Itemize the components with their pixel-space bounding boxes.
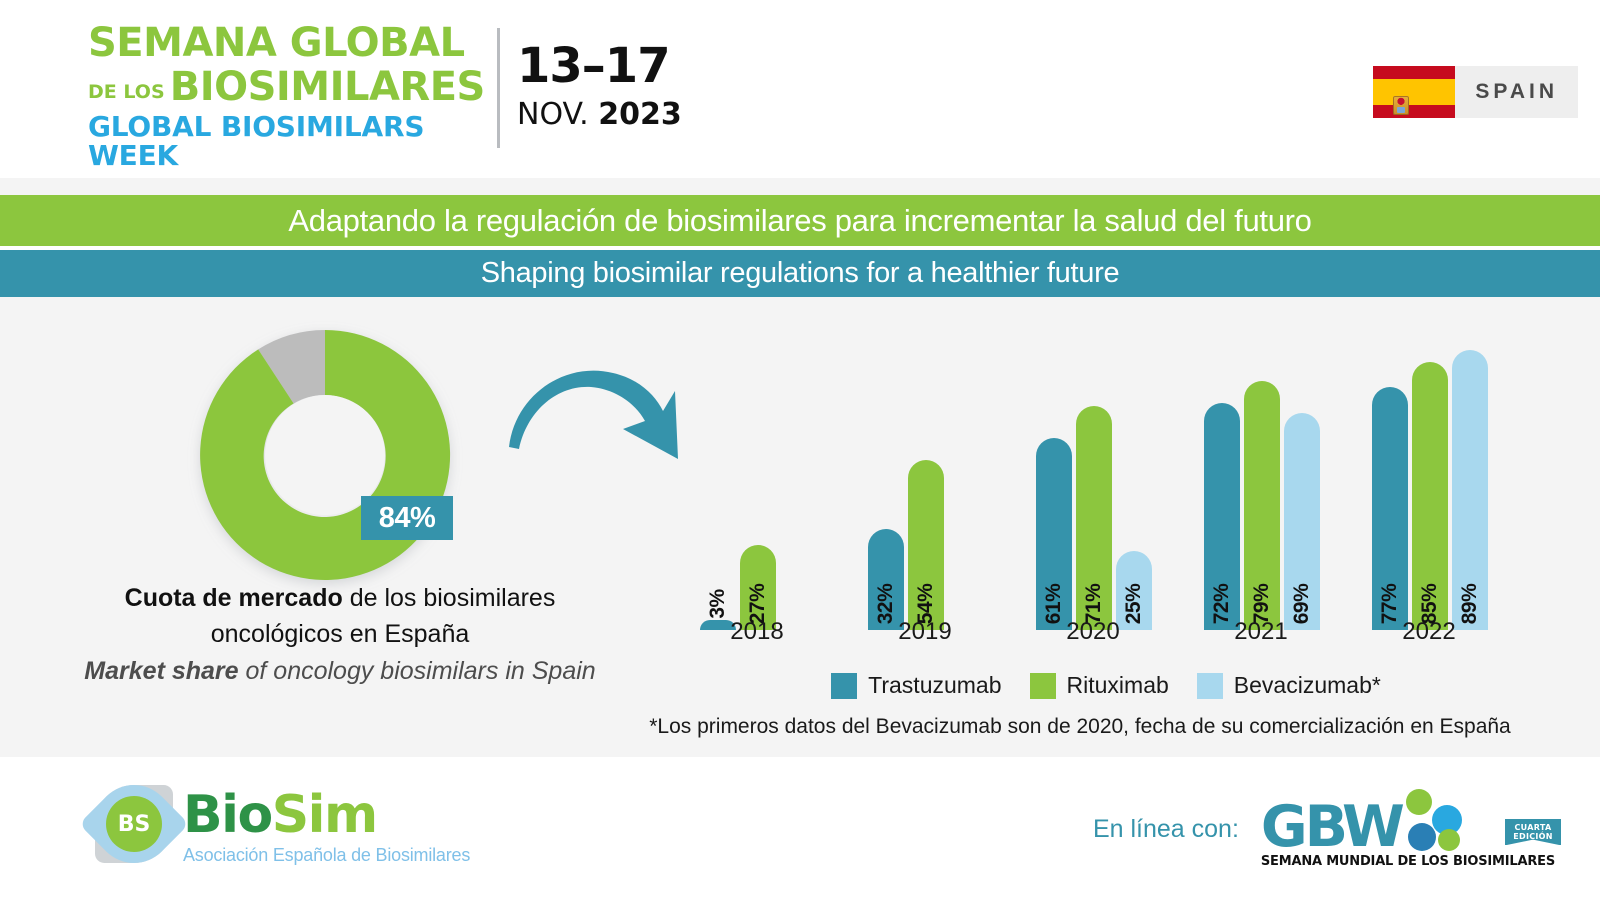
donut-chart	[180, 310, 470, 600]
donut-value-badge: 84%	[361, 496, 453, 540]
bar-bevacizumab-2021: 69%	[1284, 413, 1320, 630]
gbw-subtitle: SEMANA MUNDIAL DE LOS BIOSIMILARES	[1261, 854, 1555, 869]
biosim-mark-icon: BS	[95, 785, 173, 863]
arrow-svg	[505, 355, 685, 475]
arrow-icon	[505, 355, 685, 480]
gbw-dot-green-1	[1406, 789, 1432, 815]
date-month: NOV.	[517, 97, 589, 132]
flag-stripe	[1373, 79, 1455, 105]
donut-caption-es: Cuota de mercado de los biosimilares onc…	[60, 580, 620, 653]
legend-swatch	[1030, 673, 1056, 699]
donut-caption-en-rest: of oncology biosimilars in Spain	[239, 657, 596, 685]
gbw-ribbon-line1: CUARTA	[1511, 823, 1555, 832]
chart-footnote: *Los primeros datos del Bevacizumab son …	[600, 715, 1560, 739]
logo-line-2-small: DE LOS	[88, 81, 165, 103]
legend-label: Bevacizumab*	[1234, 672, 1381, 699]
donut-svg	[180, 310, 470, 600]
page-header: SEMANA GLOBAL DE LOS BIOSIMILARES GLOBAL…	[0, 0, 1600, 178]
country-badge: SPAIN	[1373, 66, 1578, 118]
en-linea-label: En línea con:	[1093, 815, 1239, 844]
donut-caption-en: Market share of oncology biosimilars in …	[60, 653, 620, 689]
bar-rituximab-2021: 79%	[1244, 381, 1280, 630]
donut-caption-es-bold: Cuota de mercado	[125, 584, 343, 612]
gbw-molecule-icon	[1396, 789, 1476, 851]
date-year: 2023	[598, 97, 682, 132]
biosim-name-part1: Bio	[183, 785, 272, 845]
header-spacer	[0, 178, 1600, 195]
biosim-initials: BS	[106, 796, 162, 852]
flag-crest-icon	[1393, 96, 1409, 115]
bar-trastuzumab-2022: 77%	[1372, 387, 1408, 630]
bar-trastuzumab-2021: 72%	[1204, 403, 1240, 630]
biosim-subtitle: Asociación Española de Biosimilares	[183, 845, 470, 866]
page-footer: BS BioSim Asociación Española de Biosimi…	[0, 757, 1600, 900]
gbw-block: En línea con: GBW SEMANA MUNDIAL DE LOS …	[1093, 789, 1555, 869]
biosim-name-part2: Sim	[272, 785, 377, 845]
banner-spanish-text: Adaptando la regulación de biosimilares …	[288, 203, 1311, 239]
legend-swatch	[831, 673, 857, 699]
x-axis-label-2019: 2019	[850, 618, 1000, 646]
donut-caption: Cuota de mercado de los biosimilares onc…	[60, 580, 620, 689]
legend-swatch	[1197, 673, 1223, 699]
biosim-name: BioSim	[183, 789, 470, 841]
legend-item-trastuzumab[interactable]: Trastuzumab	[831, 672, 1001, 699]
logo-line-2: DE LOS BIOSIMILARES	[88, 66, 488, 108]
legend-item-rituximab[interactable]: Rituximab	[1030, 672, 1169, 699]
legend-label: Trastuzumab	[868, 672, 1001, 699]
x-axis-label-2021: 2021	[1186, 618, 1336, 646]
bar-chart: 3%27%201832%54%201961%71%25%202072%79%69…	[680, 300, 1560, 630]
logo-line-1: SEMANA GLOBAL	[88, 22, 488, 64]
x-axis-label-2018: 2018	[682, 618, 832, 646]
banner-spanish: Adaptando la regulación de biosimilares …	[0, 195, 1600, 246]
country-name: SPAIN	[1455, 66, 1578, 118]
bar-rituximab-2022: 85%	[1412, 362, 1448, 630]
event-logo: SEMANA GLOBAL DE LOS BIOSIMILARES GLOBAL…	[88, 22, 488, 171]
bar-trastuzumab-2020: 61%	[1036, 438, 1072, 630]
gbw-logo[interactable]: GBW SEMANA MUNDIAL DE LOS BIOSIMILARES C…	[1261, 789, 1555, 869]
gbw-dot-blue-2	[1408, 823, 1436, 851]
date-range: 13–17	[517, 42, 682, 90]
x-axis-label-2020: 2020	[1018, 618, 1168, 646]
x-axis-label-2022: 2022	[1354, 618, 1504, 646]
bar-value-label: 3%	[706, 589, 730, 618]
date-month-year: NOV. 2023	[517, 100, 682, 130]
biosim-logo[interactable]: BS BioSim Asociación Española de Biosimi…	[95, 785, 470, 866]
donut-caption-en-bold: Market share	[84, 657, 238, 685]
event-date: 13–17 NOV. 2023	[517, 42, 682, 130]
bar-rituximab-2019: 54%	[908, 460, 944, 630]
gbw-dot-green-2	[1438, 829, 1460, 851]
bar-rituximab-2020: 71%	[1076, 406, 1112, 630]
biosim-wordmark: BioSim Asociación Española de Biosimilar…	[183, 785, 470, 866]
chart-legend: TrastuzumabRituximabBevacizumab*	[680, 672, 1560, 699]
logo-line-3: GLOBAL BIOSIMILARS WEEK	[88, 112, 488, 171]
bar-bevacizumab-2022: 89%	[1452, 350, 1488, 630]
legend-label: Rituximab	[1067, 672, 1169, 699]
banner-english: Shaping biosimilar regulations for a hea…	[0, 250, 1600, 297]
logo-line-2-big: BIOSIMILARES	[170, 64, 485, 110]
header-divider	[497, 28, 500, 148]
gbw-letters: GBW	[1261, 803, 1402, 851]
infographic-page: SEMANA GLOBAL DE LOS BIOSIMILARES GLOBAL…	[0, 0, 1600, 900]
banner-english-text: Shaping biosimilar regulations for a hea…	[481, 257, 1120, 290]
legend-item-bevacizumab[interactable]: Bevacizumab*	[1197, 672, 1381, 699]
bar-trastuzumab-2019: 32%	[868, 529, 904, 630]
spain-flag-icon	[1373, 66, 1455, 118]
